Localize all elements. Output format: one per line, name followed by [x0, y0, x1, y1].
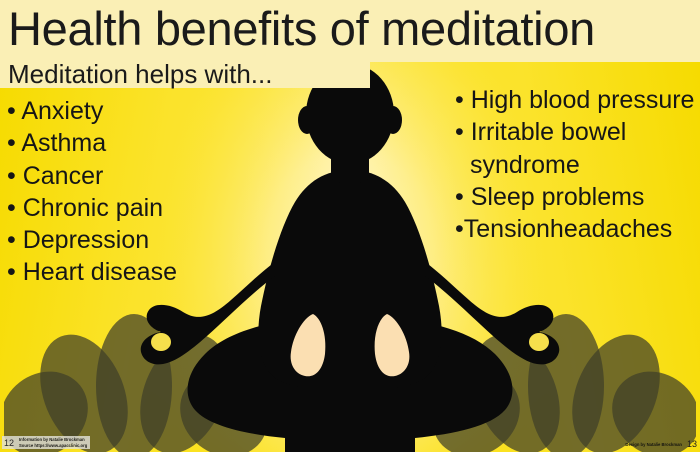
bullet-icon: • [7, 129, 16, 157]
slide-canvas: Health benefits of meditation Meditation… [0, 0, 700, 452]
benefits-list-left: • Anxiety • Asthma • Cancer • Chronic pa… [7, 95, 237, 289]
bullet-icon: • [455, 118, 464, 146]
design-credit: Design by Natalie Brockman [625, 442, 682, 447]
list-item-label: High blood pressure [471, 86, 695, 114]
bullet-icon: • [7, 162, 16, 190]
benefits-list-right: • High blood pressure • Irritable bowel … [455, 84, 700, 245]
list-item-label: Asthma [21, 129, 106, 157]
list-item-label: Sleep problems [471, 183, 645, 211]
bullet-icon: • [455, 86, 464, 114]
credit-line-2: Source https://www.apacclinic.org [19, 443, 87, 448]
bullet-icon: • [455, 183, 464, 211]
page-subtitle: Meditation helps with... [8, 58, 272, 90]
list-item: • Chronic pain [7, 192, 237, 224]
list-item: • Cancer [7, 160, 237, 192]
list-item: • Asthma [7, 127, 237, 159]
list-item-label: Anxiety [21, 97, 103, 125]
list-item: •Tensionheadaches [455, 213, 700, 245]
list-item-label: Cancer [23, 162, 104, 190]
bullet-icon: • [7, 226, 16, 254]
list-item: • High blood pressure [455, 84, 700, 116]
bullet-icon: • [7, 258, 16, 286]
bullet-icon: • [7, 194, 16, 222]
footer-credit-right: Design by Natalie Brockman 13 [625, 439, 697, 449]
bullet-icon: • [455, 215, 464, 243]
list-item-label: Depression [23, 226, 149, 254]
list-item: • Depression [7, 224, 237, 256]
bullet-icon: • [7, 97, 16, 125]
list-item-label: Chronic pain [23, 194, 163, 222]
list-item-label: Heart disease [23, 258, 177, 286]
list-item: • Sleep problems [455, 181, 700, 213]
list-item: • Heart disease [7, 256, 237, 288]
list-item: • Irritable bowel syndrome [455, 116, 700, 181]
list-item-label: Tensionheadaches [464, 215, 673, 243]
credit-lines-left: Information by Natalie Brockman Source h… [19, 437, 87, 448]
page-number-right: 13 [687, 439, 697, 449]
page-title: Health benefits of meditation [8, 0, 595, 60]
footer-credit-left: 12 Information by Natalie Brockman Sourc… [2, 436, 90, 449]
list-item-label: Irritable bowel syndrome [470, 118, 626, 178]
list-item: • Anxiety [7, 95, 237, 127]
page-number-left: 12 [4, 438, 16, 448]
